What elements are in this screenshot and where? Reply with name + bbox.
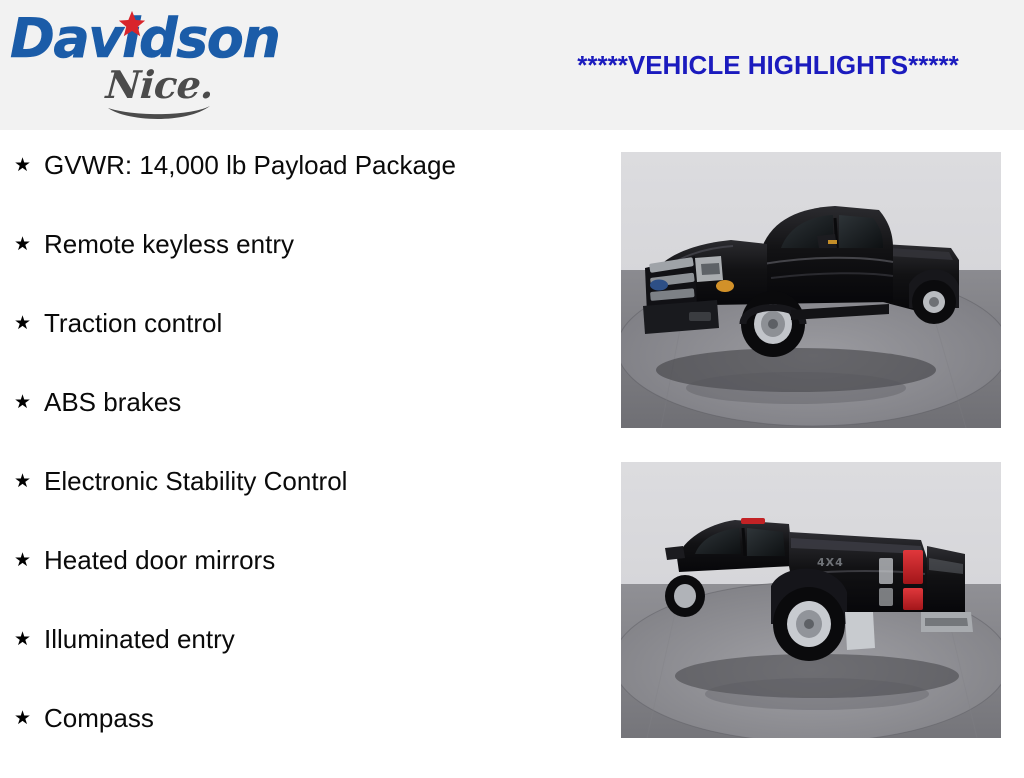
star-bullet-icon: ★	[14, 541, 44, 579]
list-item-label: ABS brakes	[44, 383, 600, 421]
star-bullet-icon: ★	[14, 146, 44, 184]
vehicle-photo-front[interactable]	[621, 152, 1001, 428]
svg-text:4X4: 4X4	[817, 556, 844, 569]
dealer-logo[interactable]: Davidson Nice.	[10, 4, 270, 126]
star-bullet-icon: ★	[14, 304, 44, 342]
star-bullet-icon: ★	[14, 620, 44, 658]
vehicle-highlights-list: ★ GVWR: 14,000 lb Payload Package ★ Remo…	[0, 146, 600, 778]
list-item: ★ Compass	[0, 699, 600, 778]
list-item: ★ Remote keyless entry	[0, 225, 600, 304]
list-item-label: Heated door mirrors	[44, 541, 600, 579]
list-item: ★ Traction control	[0, 304, 600, 383]
page-title: *****VEHICLE HIGHLIGHTS*****	[546, 50, 990, 81]
swoosh-underline-icon	[106, 104, 214, 124]
list-item: ★ Electronic Stability Control	[0, 462, 600, 541]
list-item-label: Compass	[44, 699, 600, 737]
list-item-label: Traction control	[44, 304, 600, 342]
vehicle-photo-rear[interactable]: 4X4	[621, 462, 1001, 738]
star-bullet-icon: ★	[14, 462, 44, 500]
list-item-label: GVWR: 14,000 lb Payload Package	[44, 146, 600, 184]
list-item-label: Illuminated entry	[44, 620, 600, 658]
star-bullet-icon: ★	[14, 383, 44, 421]
list-item-label: Electronic Stability Control	[44, 462, 600, 500]
logo-sub-wordmark: Nice.	[105, 66, 215, 104]
list-item-label: Remote keyless entry	[44, 225, 600, 263]
list-item: ★ GVWR: 14,000 lb Payload Package	[0, 146, 600, 225]
list-item: ★ Illuminated entry	[0, 620, 600, 699]
star-icon	[118, 10, 146, 38]
star-bullet-icon: ★	[14, 699, 44, 737]
list-item: ★ Heated door mirrors	[0, 541, 600, 620]
star-bullet-icon: ★	[14, 225, 44, 263]
list-item: ★ ABS brakes	[0, 383, 600, 462]
